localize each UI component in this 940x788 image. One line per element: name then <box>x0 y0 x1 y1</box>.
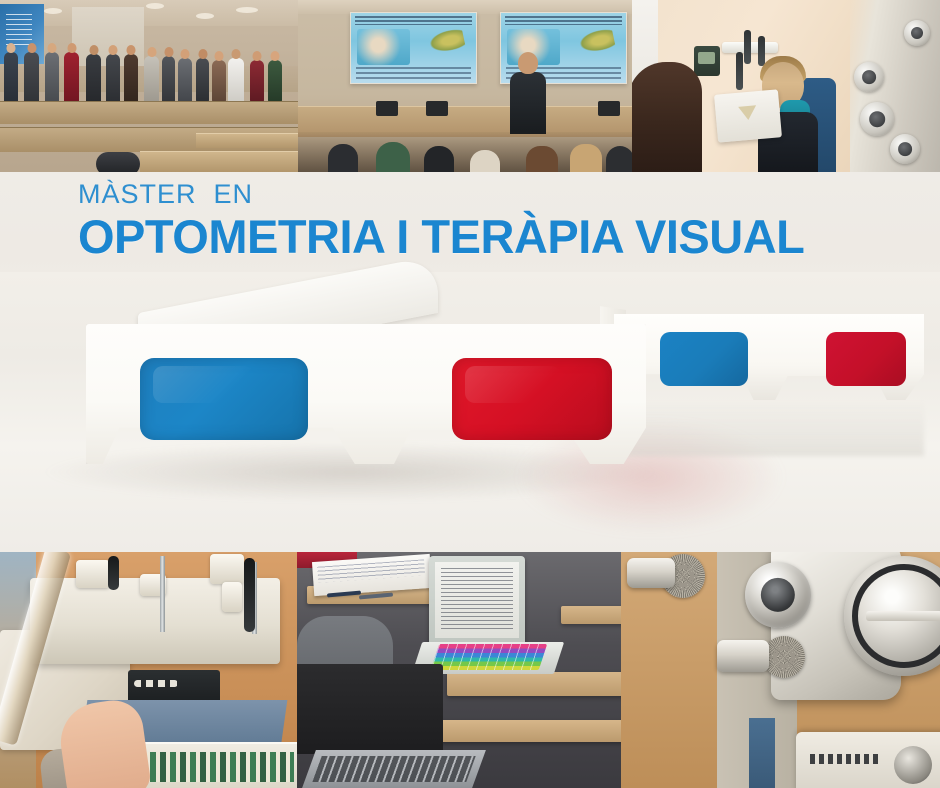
desk <box>196 133 298 148</box>
person-head <box>127 45 136 55</box>
title-band: MÀSTER EN OPTOMETRIA I TERÀPIA VISUAL Fo <box>0 172 940 552</box>
support-post <box>160 556 165 632</box>
audience-member <box>606 146 632 172</box>
lens-red <box>826 332 906 386</box>
probe <box>108 556 119 590</box>
anaglyph-glasses-rear <box>604 298 934 448</box>
slide-title <box>505 16 622 25</box>
phoropter-lens-disc <box>890 134 920 164</box>
poster-root: MÀSTER EN OPTOMETRIA I TERÀPIA VISUAL Fo <box>0 0 940 788</box>
instrument-base <box>796 732 940 788</box>
laptop-open <box>429 556 525 672</box>
person-head <box>48 43 57 53</box>
wall-instrument-box <box>694 46 720 76</box>
photo-students-laptops <box>297 552 621 788</box>
monitor <box>598 101 620 116</box>
person <box>24 52 39 108</box>
slide-title <box>355 16 472 25</box>
lecturer <box>510 72 546 134</box>
audience-member <box>470 150 500 172</box>
audience-member <box>424 146 454 172</box>
instrument-knob <box>210 554 244 584</box>
person-head <box>253 51 262 61</box>
person-head <box>109 45 118 55</box>
cylinder-knob <box>717 640 769 672</box>
phoropter-lens-disc <box>854 62 884 92</box>
audience-member <box>328 144 358 172</box>
bottom-photo-strip <box>0 552 940 788</box>
person-head <box>89 45 98 55</box>
photo-phoropter-closeup <box>621 552 940 788</box>
photo-optometry-examination <box>632 0 940 172</box>
laptop-keyboard <box>302 750 486 788</box>
person-head <box>181 49 190 59</box>
photo-lecture-hall-students <box>0 0 298 172</box>
desk <box>561 606 621 624</box>
lens-blue <box>140 358 308 440</box>
monitor <box>426 101 448 116</box>
person <box>250 60 264 102</box>
person <box>268 60 282 102</box>
instrument-knob <box>76 560 110 588</box>
person-head <box>232 49 241 59</box>
seat-row <box>0 101 298 124</box>
photo-lecture-hall-presentation <box>298 0 632 172</box>
test-card <box>714 89 782 142</box>
screen-text <box>441 568 513 630</box>
ceiling-light <box>44 8 62 14</box>
probe <box>758 36 765 66</box>
probe <box>744 30 751 64</box>
bag <box>96 152 140 172</box>
slide-image <box>357 29 410 65</box>
cylinder-knob <box>627 558 675 588</box>
person <box>196 58 209 102</box>
person-head <box>215 51 224 61</box>
anaglyph-glasses-front <box>28 290 638 500</box>
monitor <box>376 101 398 116</box>
title-block: MÀSTER EN OPTOMETRIA I TERÀPIA VISUAL <box>78 180 804 264</box>
lens-aperture <box>745 562 811 628</box>
person <box>228 58 244 104</box>
person <box>124 54 138 108</box>
ceiling-light <box>236 7 258 13</box>
audience-member <box>526 146 558 172</box>
phoropter-lens-disc <box>860 102 894 136</box>
adjustment-dial <box>763 636 805 678</box>
person <box>45 52 59 106</box>
page-title: OPTOMETRIA I TERÀPIA VISUAL <box>78 211 804 264</box>
projection-screen-left <box>350 12 477 84</box>
probe <box>736 52 743 90</box>
photo-lab-instrument-hand <box>0 552 297 788</box>
probe <box>244 558 255 632</box>
glasses-reflection <box>624 402 924 456</box>
person-head <box>27 43 36 53</box>
laptop-screen-back <box>297 664 443 754</box>
lecturer-head <box>518 52 538 74</box>
slide-graphic <box>578 28 615 55</box>
lens-red <box>452 358 612 440</box>
photo-anaglyph-glasses <box>0 272 940 552</box>
person <box>106 54 120 106</box>
ceiling-light <box>146 3 164 9</box>
slide-graphic <box>428 28 465 55</box>
person-head <box>198 49 207 59</box>
person <box>212 60 226 102</box>
laptop-foreground <box>297 664 461 788</box>
phoropter <box>850 0 940 172</box>
kicker-text: MÀSTER EN <box>78 180 804 208</box>
person-head <box>147 47 156 57</box>
cross-bar <box>866 611 940 621</box>
desk <box>140 151 298 172</box>
person-head <box>164 47 173 57</box>
ceiling-light <box>196 13 214 19</box>
person-head <box>271 51 280 61</box>
person-head <box>67 43 76 53</box>
desk <box>447 672 621 696</box>
instrument-knob <box>222 582 242 612</box>
top-photo-strip <box>0 0 940 172</box>
chair-backrest <box>749 718 775 788</box>
person <box>144 56 159 106</box>
person <box>178 58 192 104</box>
base-dial <box>894 746 932 784</box>
person <box>162 56 175 104</box>
audience-member <box>570 144 602 172</box>
person <box>64 52 79 106</box>
slide-footer <box>356 67 471 79</box>
phoropter-knob <box>904 20 930 46</box>
audience-member <box>376 142 410 172</box>
person-head <box>7 43 16 53</box>
patient-hair <box>632 62 702 172</box>
lens-blue <box>660 332 748 386</box>
